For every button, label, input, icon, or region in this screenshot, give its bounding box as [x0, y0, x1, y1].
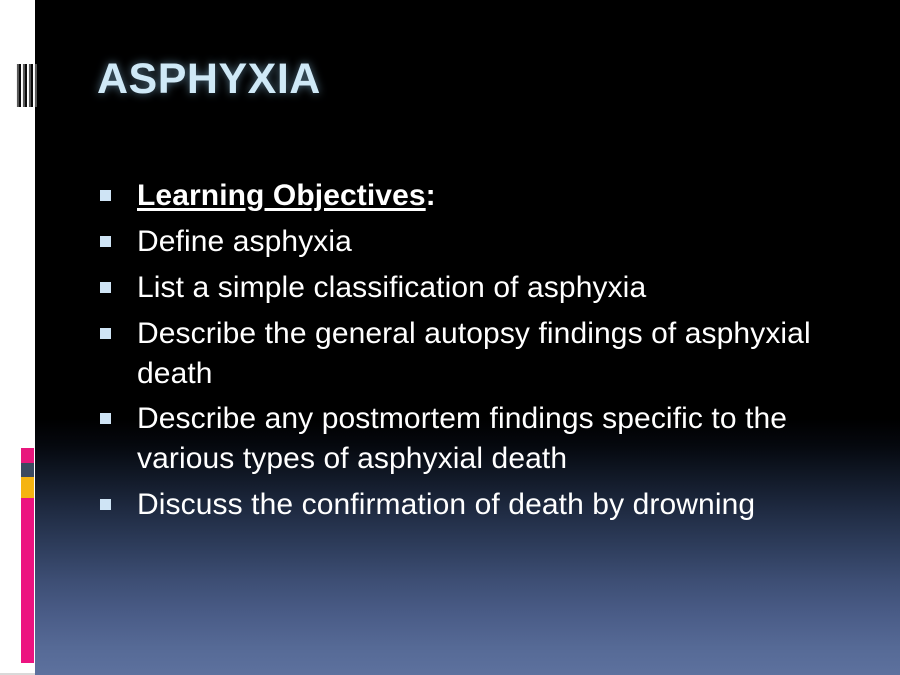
- list-item: Define asphyxia: [100, 222, 870, 262]
- list-item: Describe any postmortem findings specifi…: [100, 399, 870, 479]
- list-item: Learning Objectives:: [100, 176, 870, 216]
- bullet-text: Learning Objectives:: [137, 176, 870, 216]
- accent-bar-slate: [21, 463, 34, 477]
- square-bullet-icon: [100, 282, 111, 293]
- slide-title: ASPHYXIA: [97, 57, 321, 102]
- accent-bar-pink-long: [21, 498, 34, 663]
- bullet-text: Describe any postmortem findings specifi…: [137, 399, 870, 479]
- list-item: Describe the general autopsy findings of…: [100, 314, 870, 394]
- bullet-trailing-text: :: [426, 179, 436, 212]
- square-bullet-icon: [100, 236, 111, 247]
- bullet-text: Discuss the confirmation of death by dro…: [137, 485, 870, 525]
- bullet-text: List a simple classification of asphyxia: [137, 268, 870, 308]
- list-item: List a simple classification of asphyxia: [100, 268, 870, 308]
- vertical-stripes-ornament-icon: [16, 64, 37, 107]
- accent-bar-pink-top: [21, 448, 34, 463]
- square-bullet-icon: [100, 190, 111, 201]
- square-bullet-icon: [100, 499, 111, 510]
- list-item: Discuss the confirmation of death by dro…: [100, 485, 870, 525]
- square-bullet-icon: [100, 413, 111, 424]
- bullet-underlined-text: Learning Objectives: [137, 179, 426, 212]
- bullet-text: Describe the general autopsy findings of…: [137, 314, 870, 394]
- presentation-slide: ASPHYXIA Learning Objectives: Define asp…: [0, 0, 900, 675]
- square-bullet-icon: [100, 328, 111, 339]
- bullet-text: Define asphyxia: [137, 222, 870, 262]
- accent-bar-gold: [21, 477, 34, 498]
- bullet-list: Learning Objectives: Define asphyxia Lis…: [100, 176, 870, 531]
